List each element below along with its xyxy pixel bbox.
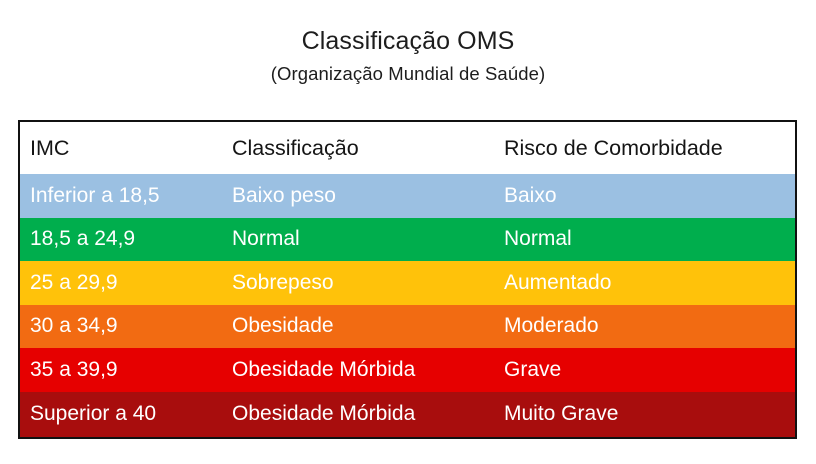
cell-classificacao: Obesidade Mórbida bbox=[232, 402, 504, 426]
bmi-classification-page: Classificação OMS (Organização Mundial d… bbox=[0, 0, 816, 464]
cell-imc: 35 a 39,9 bbox=[20, 358, 232, 382]
page-title: Classificação OMS bbox=[0, 26, 816, 56]
table-row: Superior a 40 Obesidade Mórbida Muito Gr… bbox=[20, 392, 795, 437]
page-subtitle: (Organização Mundial de Saúde) bbox=[0, 62, 816, 86]
column-header-risco: Risco de Comorbidade bbox=[504, 136, 795, 160]
table-row: 18,5 a 24,9 Normal Normal bbox=[20, 218, 795, 262]
cell-imc: 18,5 a 24,9 bbox=[20, 227, 232, 251]
cell-imc: 25 a 29,9 bbox=[20, 271, 232, 295]
cell-risco: Moderado bbox=[504, 314, 795, 338]
bmi-classification-table: IMC Classificação Risco de Comorbidade I… bbox=[18, 120, 797, 439]
column-header-classificacao: Classificação bbox=[232, 136, 504, 160]
cell-risco: Muito Grave bbox=[504, 402, 795, 426]
table-row: 25 a 29,9 Sobrepeso Aumentado bbox=[20, 261, 795, 305]
cell-classificacao: Obesidade bbox=[232, 314, 504, 338]
cell-risco: Baixo bbox=[504, 184, 795, 208]
cell-imc: 30 a 34,9 bbox=[20, 314, 232, 338]
column-header-imc: IMC bbox=[20, 136, 232, 160]
cell-risco: Grave bbox=[504, 358, 795, 382]
cell-classificacao: Normal bbox=[232, 227, 504, 251]
cell-classificacao: Baixo peso bbox=[232, 184, 504, 208]
cell-imc: Inferior a 18,5 bbox=[20, 184, 232, 208]
cell-classificacao: Obesidade Mórbida bbox=[232, 358, 504, 382]
cell-risco: Normal bbox=[504, 227, 795, 251]
cell-imc: Superior a 40 bbox=[20, 402, 232, 426]
table-header-row: IMC Classificação Risco de Comorbidade bbox=[20, 122, 795, 174]
title-block: Classificação OMS (Organização Mundial d… bbox=[0, 26, 816, 86]
table-row: Inferior a 18,5 Baixo peso Baixo bbox=[20, 174, 795, 218]
cell-classificacao: Sobrepeso bbox=[232, 271, 504, 295]
table-row: 35 a 39,9 Obesidade Mórbida Grave bbox=[20, 348, 795, 392]
table-row: 30 a 34,9 Obesidade Moderado bbox=[20, 305, 795, 349]
cell-risco: Aumentado bbox=[504, 271, 795, 295]
